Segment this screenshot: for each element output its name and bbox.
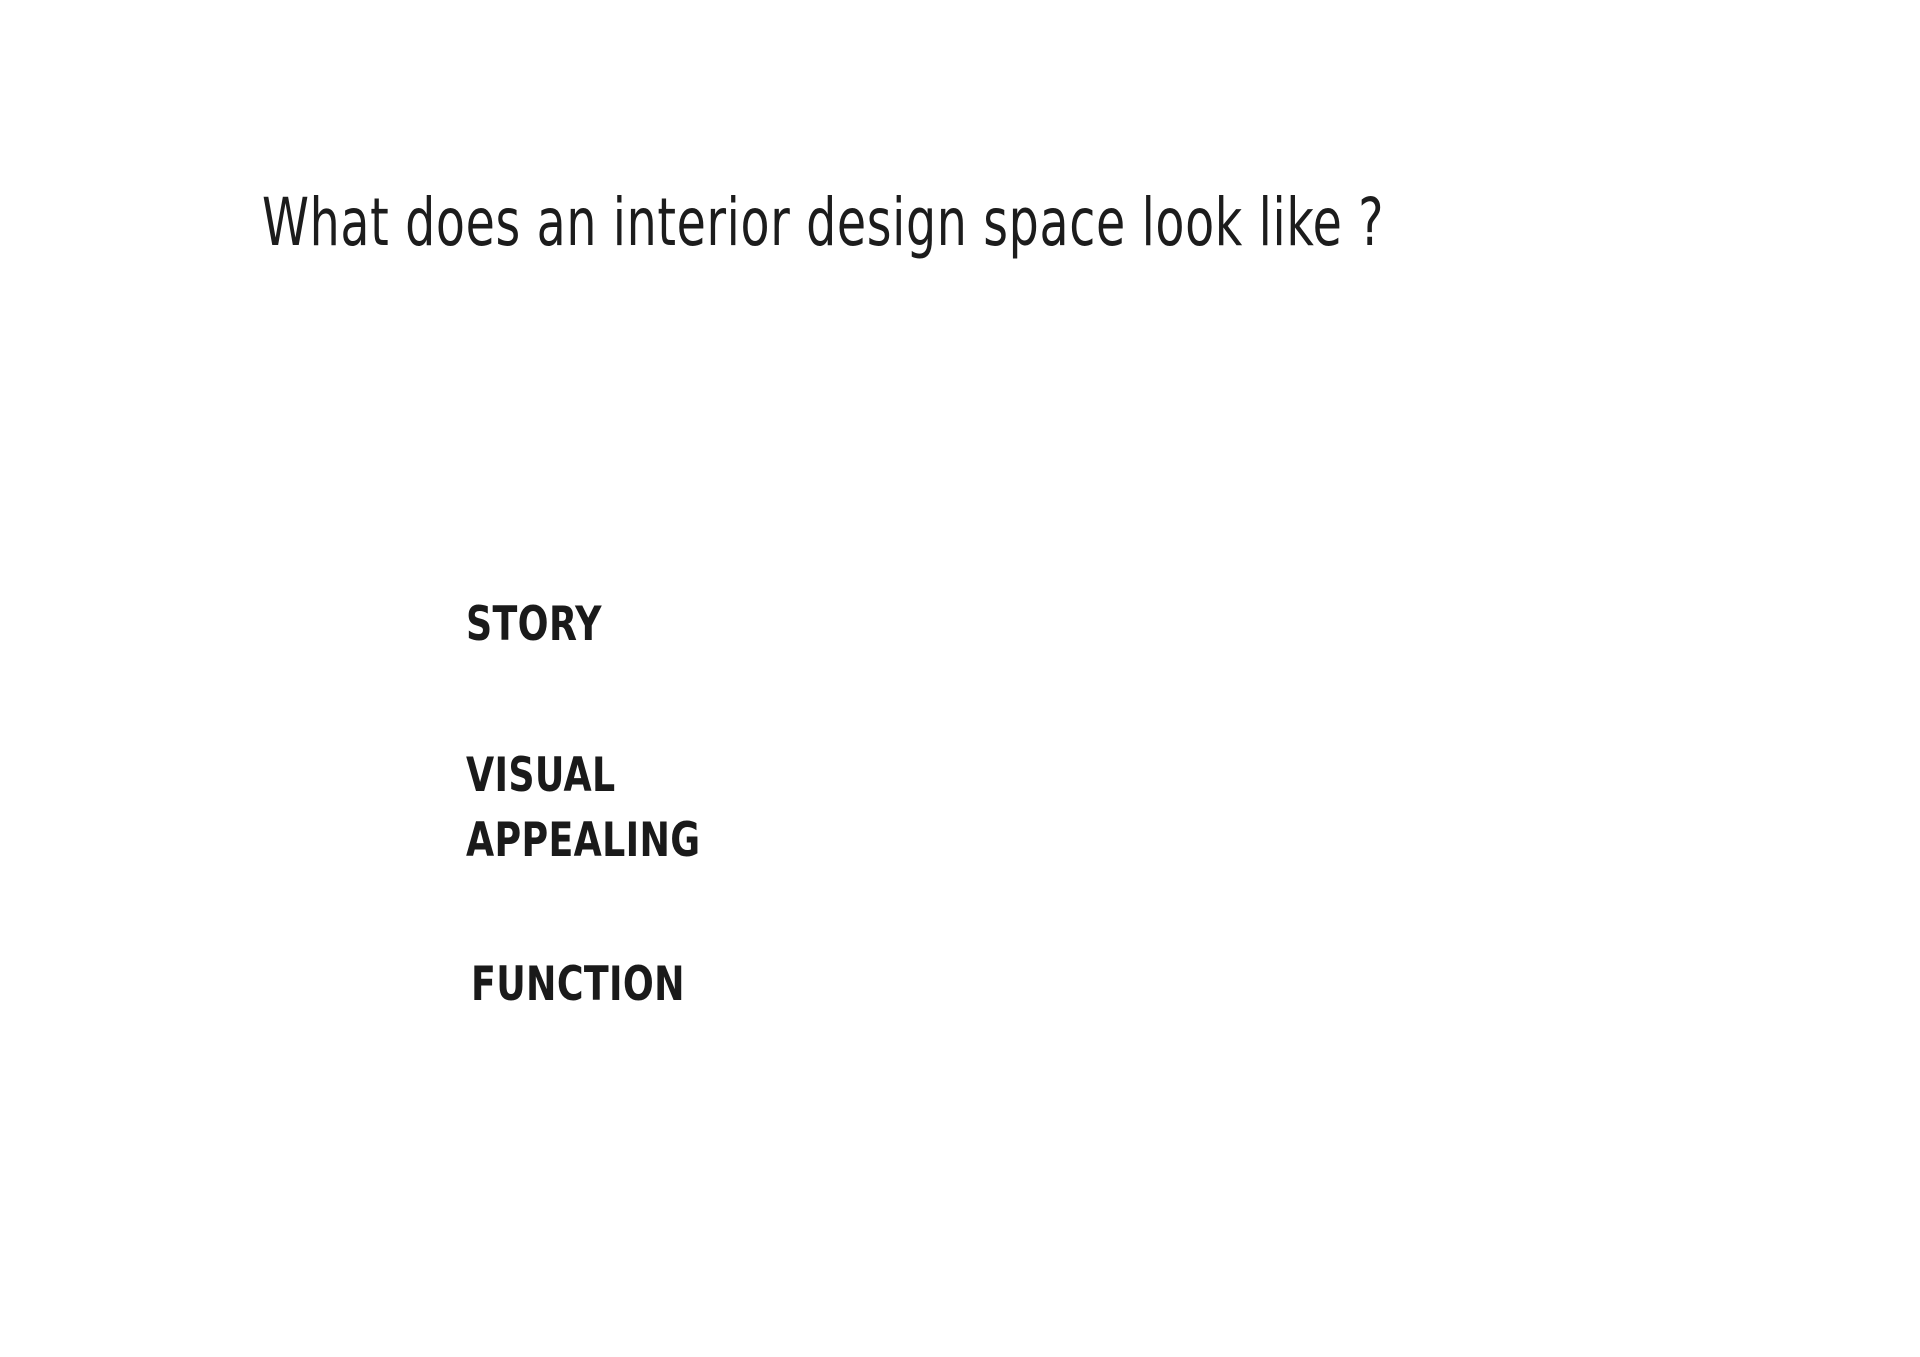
page-title: What does an interior design space look …	[262, 185, 1462, 261]
presentation-slide: What does an interior design space look …	[0, 0, 1920, 1357]
list-item-function: FUNCTION	[471, 952, 1069, 1017]
list-item-visual-appealing: VISUAL APPEALING	[466, 743, 1068, 873]
keyword-list: STORY VISUAL APPEALING FUNCTION	[466, 592, 1166, 1017]
list-item-story: STORY	[466, 592, 1068, 657]
